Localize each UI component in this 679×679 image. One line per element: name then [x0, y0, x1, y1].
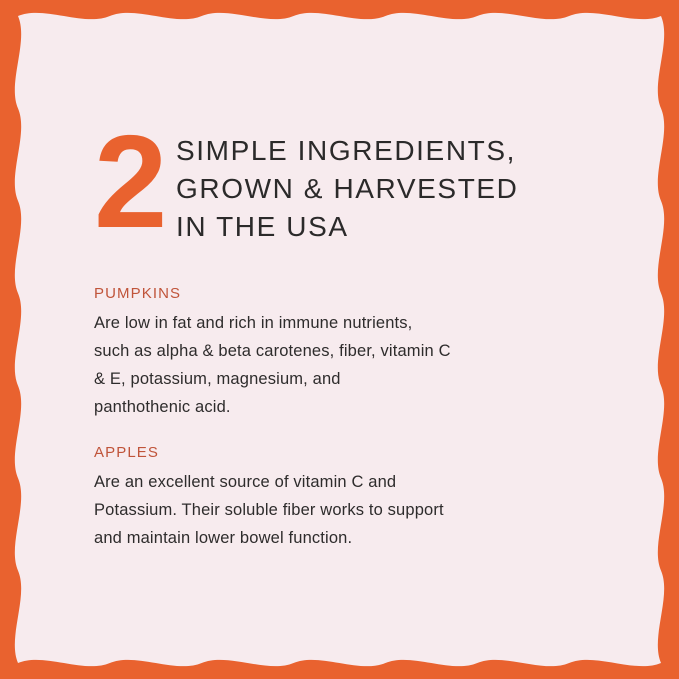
body-line: & E, potassium, magnesium, and	[94, 365, 594, 393]
headline-line-1: SIMPLE INGREDIENTS,	[176, 132, 614, 170]
section-apples: APPLES Are an excellent source of vitami…	[94, 443, 594, 552]
ingredient-sections: PUMPKINS Are low in fat and rich in immu…	[94, 284, 594, 552]
headline-line-3: IN THE USA	[176, 208, 614, 246]
section-body-pumpkins: Are low in fat and rich in immune nutrie…	[94, 309, 594, 421]
card-content: 2 SIMPLE INGREDIENTS, GROWN & HARVESTED …	[0, 0, 679, 679]
section-body-apples: Are an excellent source of vitamin C and…	[94, 468, 594, 552]
big-number-2: 2	[94, 122, 176, 242]
section-heading-pumpkins: PUMPKINS	[94, 284, 594, 304]
body-line: Are an excellent source of vitamin C and	[94, 468, 594, 496]
body-line: and maintain lower bowel function.	[94, 524, 594, 552]
section-heading-apples: APPLES	[94, 443, 594, 463]
section-pumpkins: PUMPKINS Are low in fat and rich in immu…	[94, 284, 594, 421]
body-line: Potassium. Their soluble fiber works to …	[94, 496, 594, 524]
body-line: such as alpha & beta carotenes, fiber, v…	[94, 337, 594, 365]
headline-line-2: GROWN & HARVESTED	[176, 170, 614, 208]
headline-block: 2 SIMPLE INGREDIENTS, GROWN & HARVESTED …	[94, 128, 614, 248]
body-line: Are low in fat and rich in immune nutrie…	[94, 309, 594, 337]
body-line: panthothenic acid.	[94, 393, 594, 421]
headline-lines: SIMPLE INGREDIENTS, GROWN & HARVESTED IN…	[176, 128, 614, 246]
infographic-card: 2 SIMPLE INGREDIENTS, GROWN & HARVESTED …	[0, 0, 679, 679]
